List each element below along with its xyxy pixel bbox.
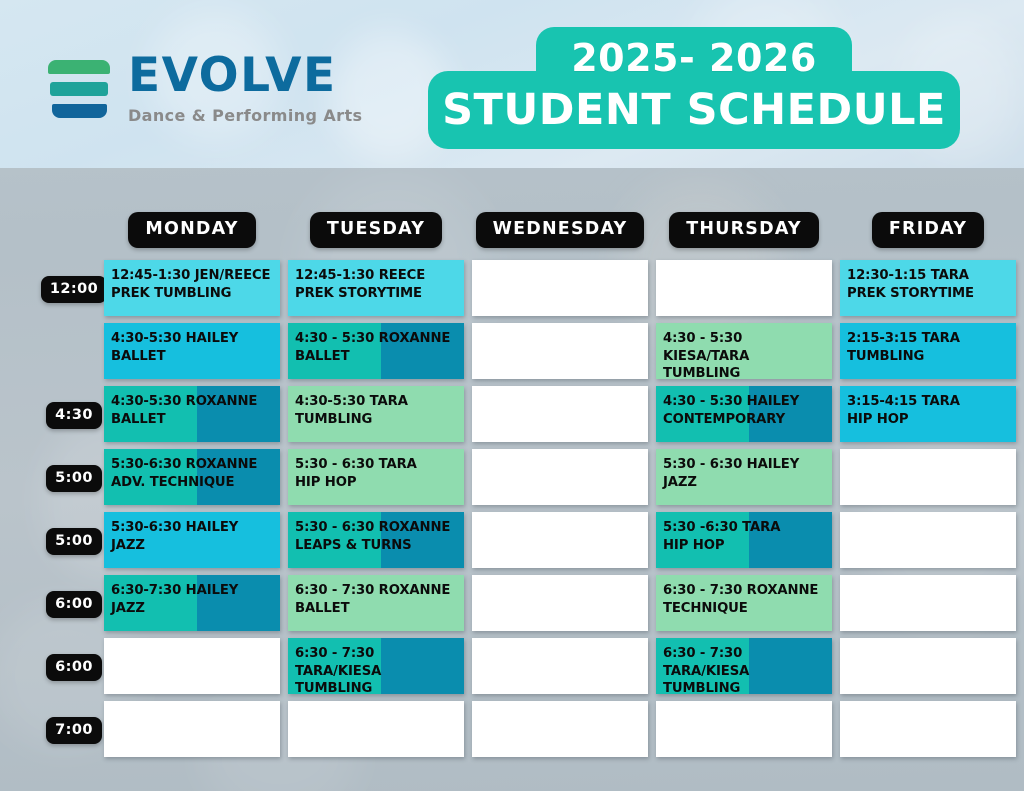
schedule-grid: 12:45-1:30 JEN/REECEPREK TUMBLING12:45-1… xyxy=(104,258,1016,762)
time-slot: 5:00 xyxy=(46,447,102,510)
schedule-cell-class[interactable]: 6:30 - 7:30 TARA/KIESATUMBLING xyxy=(656,638,832,694)
cell-line-1: 5:30 - 6:30 TARA xyxy=(295,457,417,472)
schedule-cell-class[interactable]: 5:30 -6:30 TARAHIP HOP xyxy=(656,512,832,568)
schedule-cell-empty[interactable] xyxy=(656,701,832,757)
cell-line-2: PREK STORYTIME xyxy=(847,285,1010,303)
time-slot: 6:00 xyxy=(46,573,102,636)
schedule-cell-class[interactable]: 6:30 - 7:30 ROXANNETECHNIQUE xyxy=(656,575,832,631)
schedule-cell-empty[interactable] xyxy=(840,575,1016,631)
schedule-cell-class[interactable]: 4:30 - 5:30 KIESA/TARATUMBLING xyxy=(656,323,832,379)
cell-line-1: 6:30-7:30 HAILEY xyxy=(111,583,238,598)
time-slot: 6:00 xyxy=(46,636,102,699)
time-slot: 7:00 xyxy=(46,699,102,762)
schedule-cell-empty[interactable] xyxy=(104,701,280,757)
time-slot xyxy=(46,321,102,384)
brand-name: EVOLVE xyxy=(128,52,362,99)
cell-text: 2:15-3:15 TARATUMBLING xyxy=(840,323,1016,365)
day-header-row: MONDAYTUESDAYWEDNESDAYTHURSDAYFRIDAY xyxy=(104,212,1016,248)
schedule-cell-class[interactable]: 5:30 - 6:30 TARAHIP HOP xyxy=(288,449,464,505)
schedule-cell-class[interactable]: 3:15-4:15 TARAHIP HOP xyxy=(840,386,1016,442)
time-label-5-00: 5:00 xyxy=(46,528,102,555)
cell-text: 4:30 - 5:30 ROXANNEBALLET xyxy=(288,323,464,365)
cell-line-1: 2:15-3:15 TARA xyxy=(847,331,960,346)
schedule-cell-class[interactable]: 6:30 - 7:30 ROXANNEBALLET xyxy=(288,575,464,631)
schedule-poster: EVOLVE Dance & Performing Arts 2025- 202… xyxy=(0,0,1024,791)
cell-line-2: HIP HOP xyxy=(847,411,1010,429)
cell-line-1: 4:30-5:30 TARA xyxy=(295,394,408,409)
cell-line-1: 12:45-1:30 JEN/REECE xyxy=(111,268,270,283)
time-slot: 5:00 xyxy=(46,510,102,573)
schedule-cell-empty[interactable] xyxy=(472,449,648,505)
cell-text: 3:15-4:15 TARAHIP HOP xyxy=(840,386,1016,428)
schedule-cell-class[interactable]: 4:30 - 5:30 ROXANNEBALLET xyxy=(288,323,464,379)
schedule-title: STUDENT SCHEDULE xyxy=(442,85,946,135)
brand-logo: EVOLVE Dance & Performing Arts xyxy=(48,52,362,125)
cell-line-2: BALLET xyxy=(111,348,274,366)
cell-text: 6:30 - 7:30 ROXANNEBALLET xyxy=(288,575,464,617)
cell-line-1: 5:30 - 6:30 HAILEY xyxy=(663,457,799,472)
cell-line-1: 5:30 - 6:30 ROXANNE xyxy=(295,520,450,535)
cell-line-2: HIP HOP xyxy=(663,537,826,555)
cell-text: 4:30 - 5:30 KIESA/TARATUMBLING xyxy=(656,323,832,379)
cell-text: 4:30-5:30 TARATUMBLING xyxy=(288,386,464,428)
time-label-4-30: 4:30 xyxy=(46,402,102,429)
cell-text: 12:45-1:30 REECEPREK STORYTIME xyxy=(288,260,464,302)
cell-text: 6:30 - 7:30 TARA/KIESATUMBLING xyxy=(656,638,832,694)
cell-line-2: JAZZ xyxy=(111,537,274,555)
cell-line-2: TUMBLING xyxy=(295,411,458,429)
cell-line-2: BALLET xyxy=(111,411,274,429)
cell-text: 4:30-5:30 ROXANNEBALLET xyxy=(104,386,280,428)
schedule-cell-empty[interactable] xyxy=(656,260,832,316)
cell-line-1: 6:30 - 7:30 TARA/KIESA xyxy=(663,646,749,679)
cell-line-2: TECHNIQUE xyxy=(663,600,826,618)
cell-line-2: BALLET xyxy=(295,600,458,618)
schedule-cell-empty[interactable] xyxy=(840,449,1016,505)
cell-line-1: 3:15-4:15 TARA xyxy=(847,394,960,409)
time-label-7-00: 7:00 xyxy=(46,717,102,744)
cell-line-1: 5:30-6:30 ROXANNE xyxy=(111,457,257,472)
cell-line-2: CONTEMPORARY xyxy=(663,411,826,429)
schedule-cell-empty[interactable] xyxy=(472,512,648,568)
schedule-cell-class[interactable]: 5:30-6:30 ROXANNEADV. TECHNIQUE xyxy=(104,449,280,505)
banner-top-shape: 2025- 2026 xyxy=(536,27,852,89)
time-slot: 12:00 xyxy=(46,258,102,321)
schedule-cell-class[interactable]: 4:30-5:30 ROXANNEBALLET xyxy=(104,386,280,442)
cell-line-1: 4:30 - 5:30 KIESA/TARA xyxy=(663,331,749,364)
cell-text: 6:30-7:30 HAILEYJAZZ xyxy=(104,575,280,617)
cell-text: 4:30-5:30 HAILEYBALLET xyxy=(104,323,280,365)
cell-line-1: 6:30 - 7:30 TARA/KIESA xyxy=(295,646,381,679)
day-header-friday: FRIDAY xyxy=(872,212,984,248)
cell-text: 6:30 - 7:30 TARA/KIESATUMBLING xyxy=(288,638,464,694)
cell-text: 12:30-1:15 TARAPREK STORYTIME xyxy=(840,260,1016,302)
cell-line-2: JAZZ xyxy=(111,600,274,618)
day-header-monday: MONDAY xyxy=(128,212,255,248)
time-label-12-00: 12:00 xyxy=(41,276,107,303)
schedule-cell-empty[interactable] xyxy=(840,701,1016,757)
schedule-cell-empty[interactable] xyxy=(472,575,648,631)
schedule-cell-class[interactable]: 4:30-5:30 TARATUMBLING xyxy=(288,386,464,442)
time-label-6-00: 6:00 xyxy=(46,591,102,618)
schedule-cell-class[interactable]: 12:45-1:30 JEN/REECEPREK TUMBLING xyxy=(104,260,280,316)
evolve-bars-logo-icon xyxy=(48,60,110,118)
schedule-cell-class[interactable]: 5:30-6:30 HAILEYJAZZ xyxy=(104,512,280,568)
time-label-6-00: 6:00 xyxy=(46,654,102,681)
cell-line-2: PREK STORYTIME xyxy=(295,285,458,303)
cell-text: 5:30-6:30 HAILEYJAZZ xyxy=(104,512,280,554)
cell-text: 5:30 - 6:30 ROXANNELEAPS & TURNS xyxy=(288,512,464,554)
schedule-cell-empty[interactable] xyxy=(472,260,648,316)
time-slot: 4:30 xyxy=(46,384,102,447)
schedule-cell-empty[interactable] xyxy=(472,638,648,694)
day-header-tuesday: TUESDAY xyxy=(310,212,442,248)
day-header-wednesday: WEDNESDAY xyxy=(476,212,645,248)
schedule-cell-empty[interactable] xyxy=(840,638,1016,694)
schedule-cell-class[interactable]: 6:30-7:30 HAILEYJAZZ xyxy=(104,575,280,631)
cell-line-1: 4:30-5:30 ROXANNE xyxy=(111,394,257,409)
cell-line-2: ADV. TECHNIQUE xyxy=(111,474,274,492)
schedule-cell-class[interactable]: 5:30 - 6:30 ROXANNELEAPS & TURNS xyxy=(288,512,464,568)
schedule-cell-empty[interactable] xyxy=(104,638,280,694)
cell-line-1: 5:30 -6:30 TARA xyxy=(663,520,780,535)
schedule-cell-class[interactable]: 5:30 - 6:30 HAILEY JAZZ xyxy=(656,449,832,505)
cell-line-2: BALLET xyxy=(295,348,458,366)
time-label-empty xyxy=(65,347,83,358)
schedule-cell-empty[interactable] xyxy=(472,323,648,379)
cell-line-2: PREK TUMBLING xyxy=(111,285,274,303)
cell-text: 6:30 - 7:30 ROXANNETECHNIQUE xyxy=(656,575,832,617)
schedule-cell-empty[interactable] xyxy=(472,386,648,442)
cell-text: 12:45-1:30 JEN/REECEPREK TUMBLING xyxy=(104,260,280,302)
schedule-cell-class[interactable]: 12:45-1:30 REECEPREK STORYTIME xyxy=(288,260,464,316)
cell-text: 5:30 - 6:30 HAILEY JAZZ xyxy=(656,449,832,491)
schedule-cell-empty[interactable] xyxy=(840,512,1016,568)
cell-line-1: 6:30 - 7:30 ROXANNE xyxy=(663,583,818,598)
cell-line-2: TUMBLING xyxy=(847,348,1010,366)
schedule-year: 2025- 2026 xyxy=(571,36,817,80)
cell-line-1: 4:30 - 5:30 HAILEY xyxy=(663,394,799,409)
schedule-cell-empty[interactable] xyxy=(288,701,464,757)
cell-line-2: TUMBLING xyxy=(663,680,826,694)
cell-line-1: 12:45-1:30 REECE xyxy=(295,268,425,283)
banner-bottom-shape: STUDENT SCHEDULE xyxy=(428,71,960,149)
schedule-cell-class[interactable]: 12:30-1:15 TARAPREK STORYTIME xyxy=(840,260,1016,316)
schedule-cell-empty[interactable] xyxy=(472,701,648,757)
cell-line-2: LEAPS & TURNS xyxy=(295,537,458,555)
cell-line-1: 6:30 - 7:30 ROXANNE xyxy=(295,583,450,598)
schedule-cell-class[interactable]: 4:30-5:30 HAILEYBALLET xyxy=(104,323,280,379)
schedule-cell-class[interactable]: 2:15-3:15 TARATUMBLING xyxy=(840,323,1016,379)
time-label-5-00: 5:00 xyxy=(46,465,102,492)
cell-line-2: JAZZ xyxy=(663,474,826,492)
cell-text: 5:30 -6:30 TARAHIP HOP xyxy=(656,512,832,554)
schedule-cell-class[interactable]: 6:30 - 7:30 TARA/KIESATUMBLING xyxy=(288,638,464,694)
title-banner: 2025- 2026 STUDENT SCHEDULE xyxy=(428,27,960,149)
cell-line-1: 4:30-5:30 HAILEY xyxy=(111,331,238,346)
cell-line-1: 5:30-6:30 HAILEY xyxy=(111,520,238,535)
cell-text: 5:30 - 6:30 TARAHIP HOP xyxy=(288,449,464,491)
cell-text: 5:30-6:30 ROXANNEADV. TECHNIQUE xyxy=(104,449,280,491)
brand-tagline: Dance & Performing Arts xyxy=(128,106,362,125)
cell-line-2: TUMBLING xyxy=(295,680,458,694)
time-column: 12:004:305:005:006:006:007:00 xyxy=(46,258,102,762)
cell-line-2: HIP HOP xyxy=(295,474,458,492)
cell-line-1: 4:30 - 5:30 ROXANNE xyxy=(295,331,450,346)
cell-line-2: TUMBLING xyxy=(663,365,826,379)
schedule-cell-class[interactable]: 4:30 - 5:30 HAILEYCONTEMPORARY xyxy=(656,386,832,442)
day-header-thursday: THURSDAY xyxy=(669,212,819,248)
cell-line-1: 12:30-1:15 TARA xyxy=(847,268,969,283)
cell-text: 4:30 - 5:30 HAILEYCONTEMPORARY xyxy=(656,386,832,428)
